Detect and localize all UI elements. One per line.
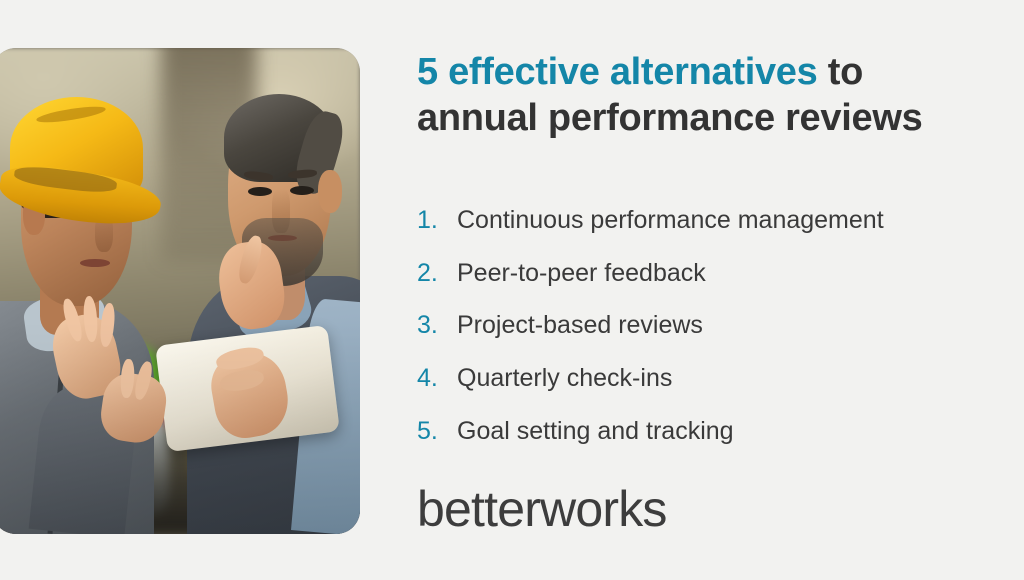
list-item-label: Project-based reviews [457,311,703,340]
content-column: 5 effective alternatives to annual perfo… [417,50,987,534]
list-item-label: Goal setting and tracking [457,417,734,446]
list-item-number: 1. [417,206,457,235]
betterworks-logo: betterworks [417,484,987,534]
list-item-number: 3. [417,311,457,340]
page-title: 5 effective alternatives to annual perfo… [417,50,987,142]
list-item-number: 2. [417,259,457,288]
list-item-number: 4. [417,364,457,393]
list-item: 2. Peer-to-peer feedback [417,259,987,288]
list-item-number: 5. [417,417,457,446]
list-item: 3. Project-based reviews [417,311,987,340]
list-item: 4. Quarterly check-ins [417,364,987,393]
hero-photo [0,48,360,534]
alternatives-list: 1. Continuous performance management 2. … [417,206,987,446]
list-item: 1. Continuous performance management [417,206,987,235]
list-item: 5. Goal setting and tracking [417,417,987,446]
list-item-label: Continuous performance management [457,206,884,235]
photo-scene [0,48,360,534]
headline-accent: 5 effective alternatives [417,51,817,93]
list-item-label: Quarterly check-ins [457,364,672,393]
promo-card: 5 effective alternatives to annual perfo… [0,0,1024,580]
photo-vignette [0,48,360,534]
list-item-label: Peer-to-peer feedback [457,259,706,288]
